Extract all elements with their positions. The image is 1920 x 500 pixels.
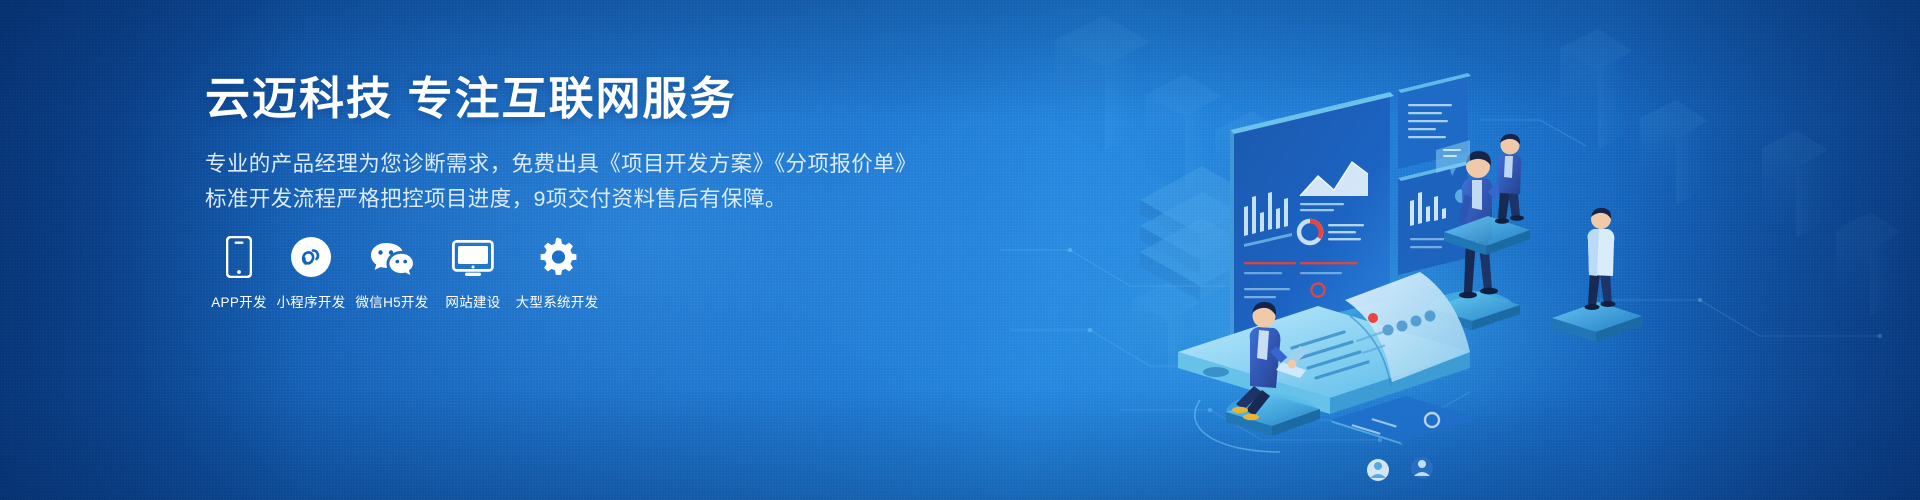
banner-copy: 云迈科技 专注互联网服务 专业的产品经理为您诊断需求，免费出具《项目开发方案》《… [205, 72, 925, 217]
gear-icon [536, 232, 578, 278]
hero-banner: 云迈科技 专注互联网服务 专业的产品经理为您诊断需求，免费出具《项目开发方案》《… [0, 0, 1920, 500]
service-item-app[interactable]: APP开发 [203, 232, 275, 311]
subtitle-line-2: 标准开发流程严格把控项目进度，9项交付资料售后有保障。 [205, 182, 925, 217]
service-item-website[interactable]: 网站建设 [437, 232, 509, 311]
isometric-illustration [940, 0, 1920, 500]
bottom-avatars [1367, 457, 1433, 481]
service-label-miniprogram: 小程序开发 [277, 291, 346, 311]
service-item-wechat[interactable]: 微信H5开发 [347, 232, 437, 311]
service-label-wechat: 微信H5开发 [355, 291, 428, 311]
page-title: 云迈科技 专注互联网服务 [205, 72, 925, 125]
subtitle-block: 专业的产品经理为您诊断需求，免费出具《项目开发方案》《分项报价单》 标准开发流程… [205, 147, 925, 217]
service-item-system[interactable]: 大型系统开发 [509, 232, 605, 311]
service-label-app: APP开发 [211, 291, 267, 311]
mobile-phone-icon [226, 232, 252, 278]
service-label-system: 大型系统开发 [516, 291, 599, 311]
wechat-icon [369, 232, 415, 278]
service-item-miniprogram[interactable]: 小程序开发 [275, 232, 347, 311]
service-list: APP开发 小程序开发 [203, 232, 605, 311]
mini-program-icon [290, 232, 332, 278]
service-label-website: 网站建设 [445, 291, 500, 311]
monitor-icon [452, 232, 494, 278]
subtitle-line-1: 专业的产品经理为您诊断需求，免费出具《项目开发方案》《分项报价单》 [205, 147, 925, 182]
